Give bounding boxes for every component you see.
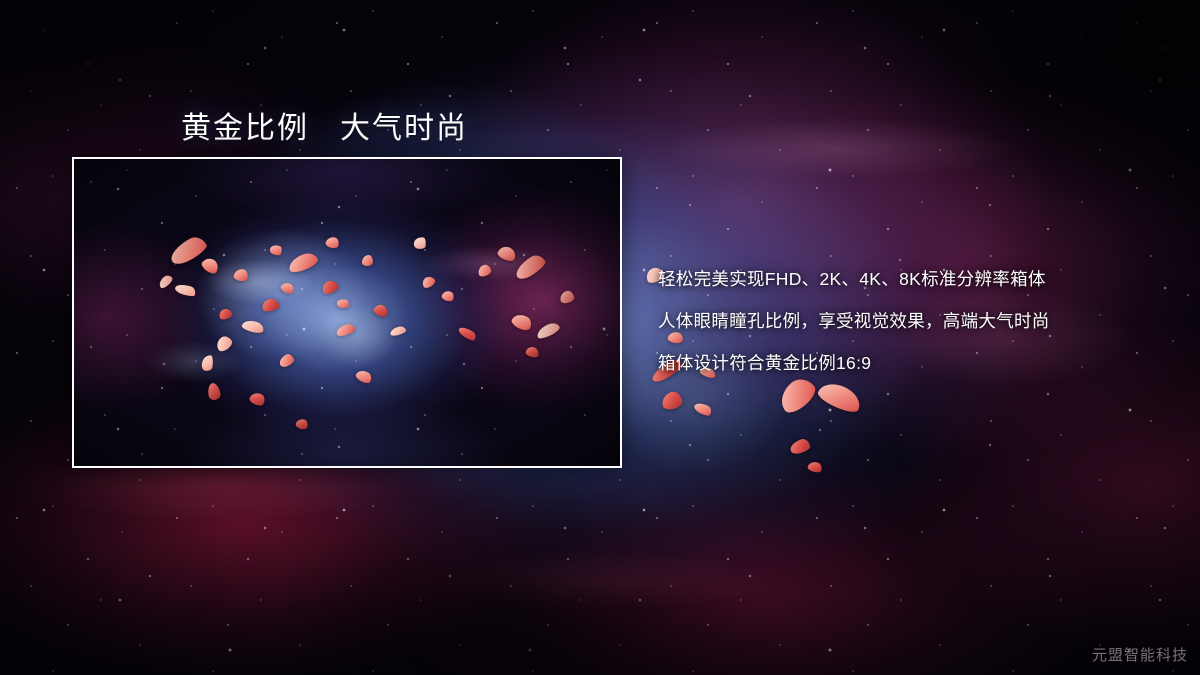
body-line-1: 轻松完美实现FHD、2K、4K、8K标准分辨率箱体 <box>658 258 1158 300</box>
body-line-3: 箱体设计符合黄金比例16:9 <box>658 342 1158 384</box>
body-line-2: 人体眼睛瞳孔比例，享受视觉效果，高端大气时尚 <box>658 300 1158 342</box>
image-panel <box>72 157 622 468</box>
image-panel-inner <box>74 159 620 466</box>
watermark: 元盟智能科技 <box>1092 644 1188 665</box>
panel-vignette <box>74 159 620 466</box>
page-title: 黄金比例 大气时尚 <box>181 103 468 147</box>
slide-canvas: 黄金比例 大气时尚 轻松完美实现FHD、2K、4K、8K标准分辨率箱体 人体眼睛… <box>0 0 1200 675</box>
body-paragraph: 轻松完美实现FHD、2K、4K、8K标准分辨率箱体 人体眼睛瞳孔比例，享受视觉效… <box>658 258 1158 384</box>
